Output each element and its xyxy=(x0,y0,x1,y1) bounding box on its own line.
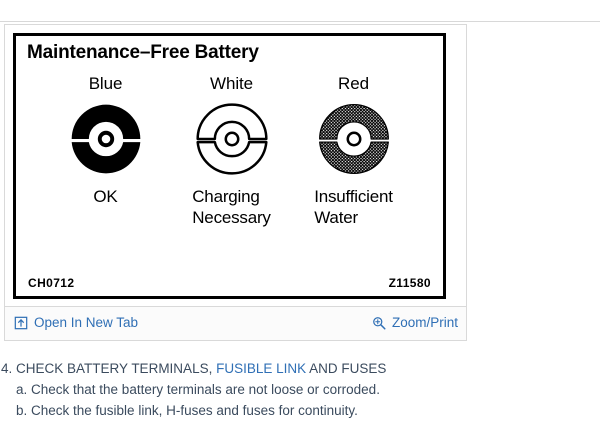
instruction-step-4: 4. CHECK BATTERY TERMINALS, FUSIBLE LINK… xyxy=(0,358,600,379)
indicator-color-label: Blue xyxy=(89,74,123,94)
battery-indicator-white-icon xyxy=(186,100,278,178)
figure-code-left: CH0712 xyxy=(28,276,74,290)
open-in-new-tab-icon xyxy=(14,316,28,330)
instruction-list: 4. CHECK BATTERY TERMINALS, FUSIBLE LINK… xyxy=(0,358,600,421)
indicator-column-blue: Blue OK xyxy=(47,74,165,228)
indicator-color-label: White xyxy=(210,74,253,94)
fusible-link-link[interactable]: FUSIBLE LINK xyxy=(216,361,306,376)
step-title-text: CHECK BATTERY TERMINALS, xyxy=(16,361,216,376)
page-top-divider xyxy=(0,21,600,22)
figure-viewer-panel: Maintenance–Free Battery Blue OK White xyxy=(4,24,467,341)
instruction-sub-a: a. Check that the battery terminals are … xyxy=(0,379,600,400)
open-in-new-tab-label: Open In New Tab xyxy=(34,315,138,330)
indicator-row: Blue OK White Charging Necessary xyxy=(16,74,443,228)
open-in-new-tab-button[interactable]: Open In New Tab xyxy=(14,315,138,330)
indicator-column-red: Red Insufficient Water xyxy=(295,74,413,228)
figure-toolbar: Open In New Tab Zoom/Print xyxy=(5,306,466,340)
zoom-in-magnifier-icon xyxy=(372,316,386,330)
indicator-column-white: White Charging Necessary xyxy=(173,74,291,228)
indicator-state-label: OK xyxy=(93,186,117,207)
indicator-color-label: Red xyxy=(338,74,369,94)
battery-indicator-blue-icon xyxy=(60,100,152,178)
instruction-sub-b: b. Check the fusible link, H-fuses and f… xyxy=(0,400,600,421)
step-number: 4. xyxy=(1,361,12,376)
step-title-post: AND FUSES xyxy=(306,361,386,376)
figure-code-right: Z11580 xyxy=(389,276,431,290)
figure-image: Maintenance–Free Battery Blue OK White xyxy=(13,33,446,299)
zoom-print-label: Zoom/Print xyxy=(392,315,458,330)
battery-indicator-red-icon xyxy=(308,100,400,178)
zoom-print-button[interactable]: Zoom/Print xyxy=(372,315,458,330)
figure-title: Maintenance–Free Battery xyxy=(27,42,259,64)
indicator-state-label: Charging Necessary xyxy=(192,186,271,228)
indicator-state-label: Insufficient Water xyxy=(314,186,393,228)
